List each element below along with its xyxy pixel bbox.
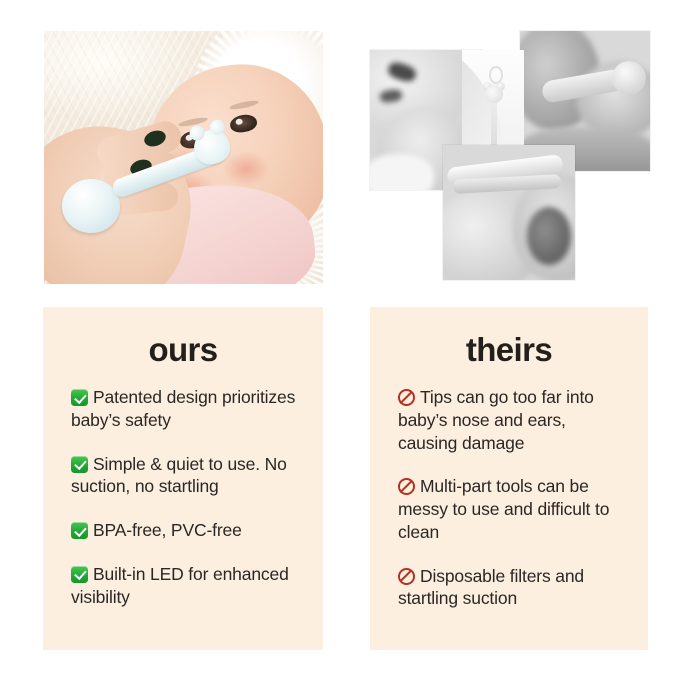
list-item-label: Multi-part tools can be messy to use and… xyxy=(398,476,609,542)
green-check-icon xyxy=(71,389,88,406)
aspirator-base xyxy=(62,179,120,233)
comparison-card-ours: ours Patented design prioritizes baby’s … xyxy=(43,307,323,650)
comparison-card-theirs: theirs Tips can go too far into baby’s n… xyxy=(370,307,648,650)
tweezer-tool-in-use-photo xyxy=(443,145,575,280)
hero-photo-scene xyxy=(44,31,323,284)
baby-cheek-right xyxy=(222,151,270,187)
list-item: Built-in LED for enhanced visibility xyxy=(71,563,301,609)
green-check-icon xyxy=(71,456,88,473)
list-item: BPA-free, PVC-free xyxy=(71,519,301,542)
product-tip-closeup-photo xyxy=(462,50,524,153)
bear-shaped-tip xyxy=(484,64,504,150)
card-title-ours: ours xyxy=(65,333,301,366)
photo-content xyxy=(443,145,575,280)
list-item: Patented design prioritizes baby’s safet… xyxy=(71,386,301,432)
list-item: Tips can go too far into baby’s nose and… xyxy=(398,386,626,454)
red-prohibition-icon xyxy=(398,478,415,495)
list-item-label: Disposable filters and startling suction xyxy=(398,566,584,609)
baby-nasal-aspirator-in-use-photo xyxy=(44,31,323,284)
benefit-list-ours: Patented design prioritizes baby’s safet… xyxy=(65,386,301,608)
red-prohibition-icon xyxy=(398,568,415,585)
drawback-list-theirs: Tips can go too far into baby’s nose and… xyxy=(392,386,626,610)
competitor-products-collage xyxy=(370,31,636,287)
comparison-cards: ours Patented design prioritizes baby’s … xyxy=(0,307,679,652)
list-item-label: Built-in LED for enhanced visibility xyxy=(71,564,289,607)
product-comparison-page: ours Patented design prioritizes baby’s … xyxy=(0,0,679,679)
red-prohibition-icon xyxy=(398,389,415,406)
list-item-label: BPA-free, PVC-free xyxy=(93,520,242,540)
list-item-label: Patented design prioritizes baby’s safet… xyxy=(71,387,295,430)
list-item: Simple & quiet to use. No suction, no st… xyxy=(71,453,301,499)
green-check-icon xyxy=(71,522,88,539)
list-item: Multi-part tools can be messy to use and… xyxy=(398,475,626,543)
list-item: Disposable filters and startling suction xyxy=(398,565,626,611)
card-title-theirs: theirs xyxy=(392,333,626,366)
green-check-icon xyxy=(71,566,88,583)
media-row xyxy=(0,0,679,300)
list-item-label: Simple & quiet to use. No suction, no st… xyxy=(71,454,287,497)
list-item-label: Tips can go too far into baby’s nose and… xyxy=(398,387,594,453)
tip-head xyxy=(485,86,503,103)
